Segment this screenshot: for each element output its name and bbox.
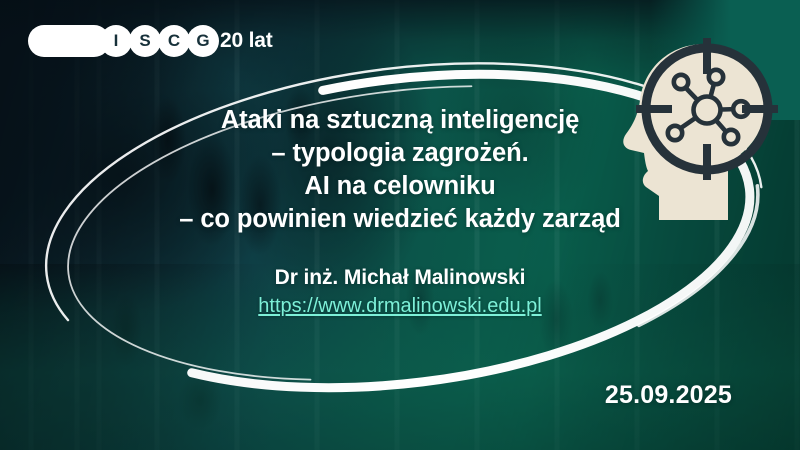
- speaker-name: Dr inż. Michał Malinowski: [40, 266, 760, 290]
- title-line-2: – typologia zagrożeń.: [40, 137, 760, 170]
- neural-node-1: [674, 75, 688, 89]
- title-line-4: – co powinien wiedzieć każdy zarząd: [40, 203, 760, 236]
- logo-letter-s: S: [129, 25, 161, 57]
- logo-letter-g: G: [187, 25, 219, 57]
- logo-years-label: 20 lat: [220, 30, 273, 52]
- title-line-1: Ataki na sztuczną inteligencję: [40, 104, 760, 137]
- title-line-3: AI na celowniku: [40, 170, 760, 203]
- logo-letter-c: C: [158, 25, 190, 57]
- iscg-logo: I S C G 20 lat: [28, 24, 273, 58]
- presentation-slide: I S C G 20 lat: [0, 0, 800, 450]
- logo-letter-i: I: [100, 25, 132, 57]
- logo-pill-shape: [28, 25, 110, 57]
- slide-text-block: Ataki na sztuczną inteligencję – typolog…: [40, 104, 760, 318]
- speaker-website-link[interactable]: https://www.drmalinowski.edu.pl: [258, 295, 541, 318]
- presentation-date: 25.09.2025: [605, 381, 732, 410]
